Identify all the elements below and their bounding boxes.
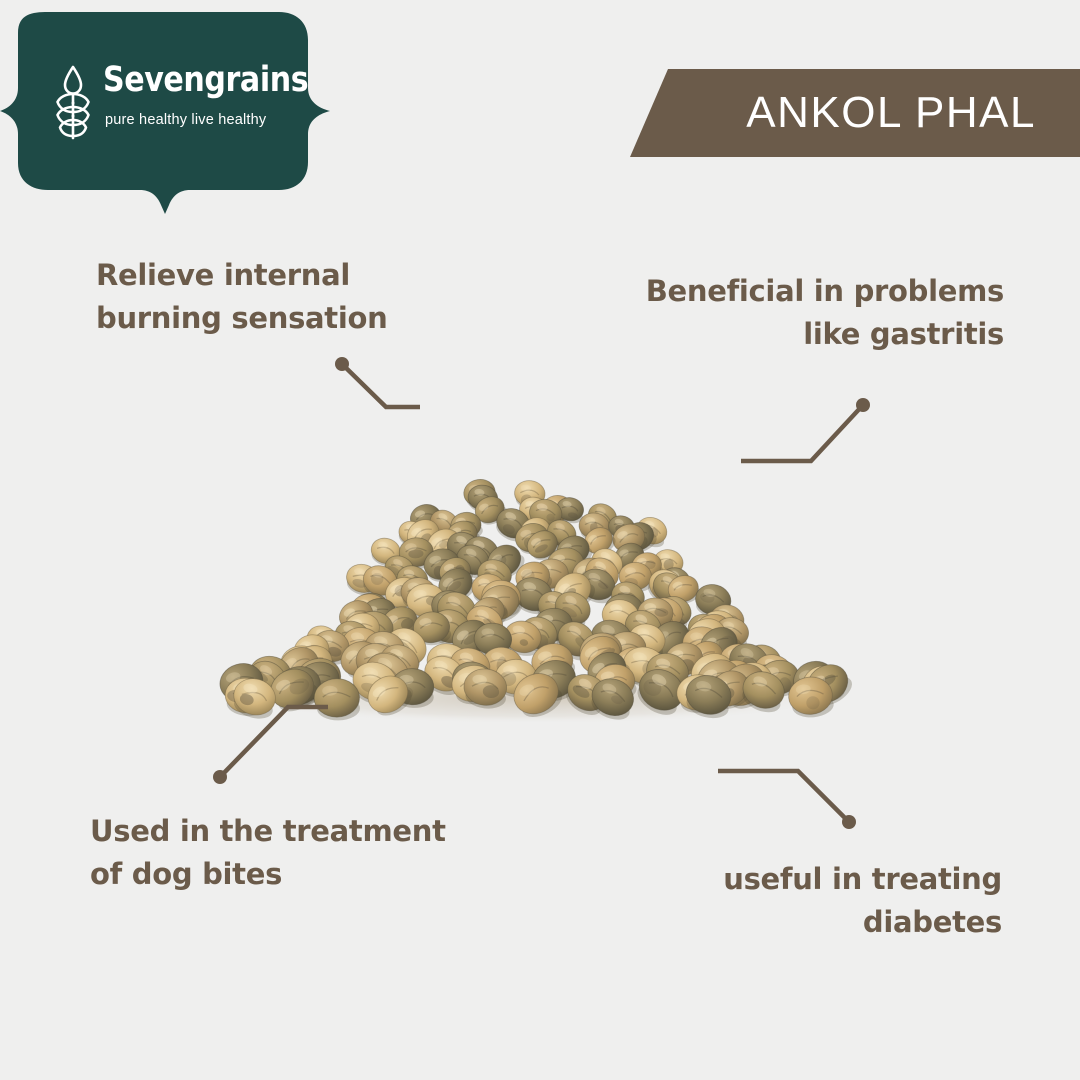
- brand-tagline: pure healthy live healthy: [105, 111, 266, 129]
- wordmark-block: Sevengrains pure healthy live healthy: [103, 60, 342, 129]
- callout-relieve-burning: Relieve internal burning sensation: [96, 254, 387, 340]
- seed-pile-illustration: [215, 440, 855, 730]
- brand-name: Sevengrains: [103, 60, 308, 100]
- seed: [314, 678, 360, 720]
- page-title: ANKOL PHAL: [630, 69, 1080, 157]
- connector-line-relieve-burning: [342, 364, 420, 407]
- connector-dot-dog-bites: [213, 770, 227, 784]
- connector-dot-diabetes: [842, 815, 856, 829]
- connector-line-diabetes: [718, 771, 849, 822]
- infographic-canvas: Sevengrains pure healthy live healthy AN…: [0, 0, 1080, 1080]
- callout-dog-bites: Used in the treatment of dog bites: [90, 810, 446, 896]
- callout-gastritis: Beneficial in problems like gastritis: [646, 270, 1004, 356]
- brand-logo-badge: Sevengrains pure healthy live healthy: [0, 0, 345, 225]
- product-image-seed-pile: [215, 440, 855, 730]
- wheat-stalk-icon: [52, 64, 94, 140]
- connector-dot-gastritis: [856, 398, 870, 412]
- title-banner: ANKOL PHAL: [630, 69, 1080, 157]
- logo-lockup: Sevengrains pure healthy live healthy: [52, 60, 292, 155]
- callout-diabetes: useful in treating diabetes: [723, 858, 1002, 944]
- connector-dot-relieve-burning: [335, 357, 349, 371]
